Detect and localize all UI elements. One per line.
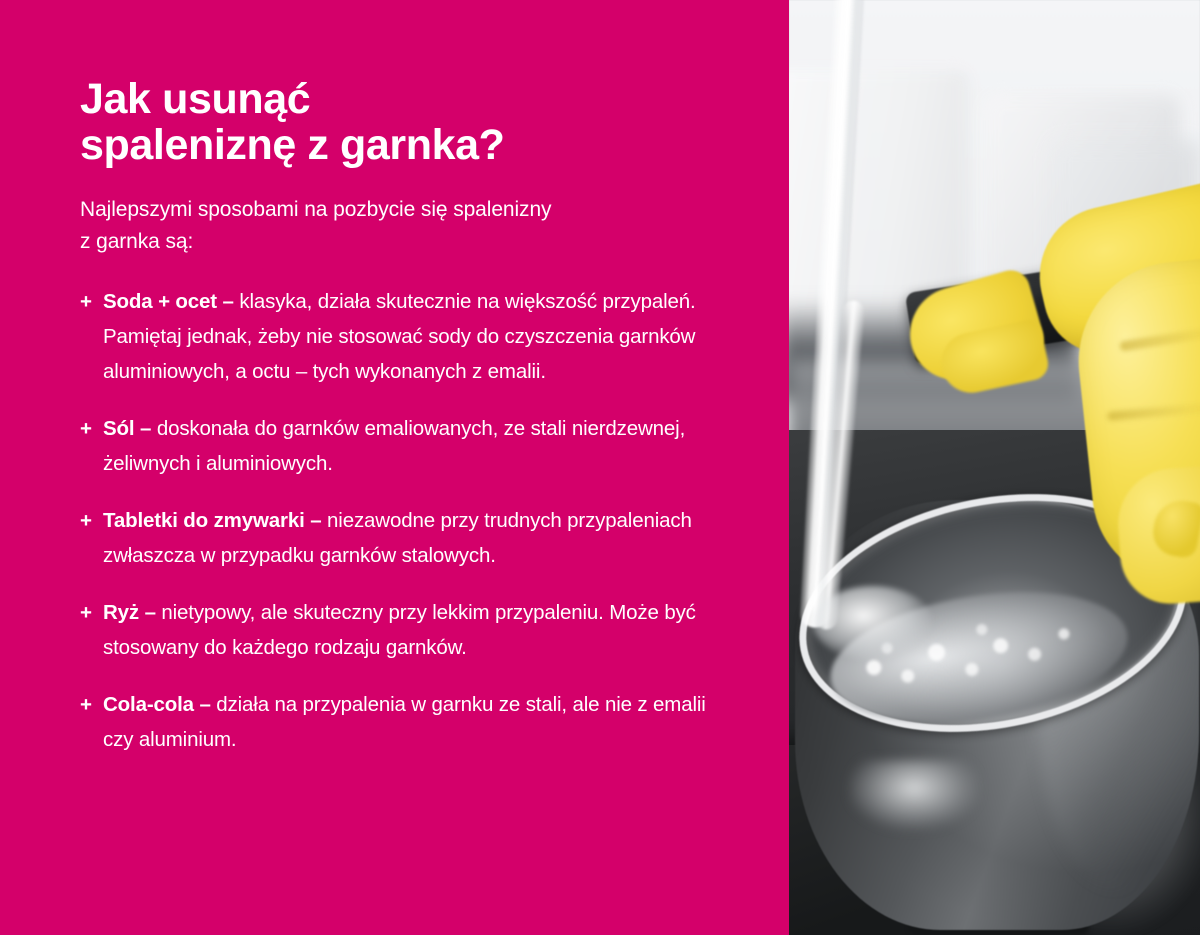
- list-item-description: doskonała do garnków emaliowanych, ze st…: [103, 417, 685, 475]
- list-item-term: Soda + ocet: [103, 290, 217, 313]
- pot-bottom-highlight: [849, 760, 979, 830]
- list-item-dash: –: [199, 693, 210, 716]
- list-item-term: Sól: [103, 417, 134, 440]
- plus-bullet-icon: +: [80, 687, 92, 722]
- list-item-dash: –: [310, 509, 321, 532]
- list-item-term: Cola-cola: [103, 693, 194, 716]
- list-item-term: Tabletki do zmywarki: [103, 509, 305, 532]
- list-item-dash: –: [140, 417, 151, 440]
- list-item: + Sól – doskonała do garnków emaliowanyc…: [80, 411, 729, 481]
- list-item: + Cola-cola – działa na przypalenia w ga…: [80, 687, 729, 757]
- list-item: + Soda + ocet – klasyka, działa skuteczn…: [80, 284, 729, 389]
- list-item-dash: –: [223, 290, 234, 313]
- list-item-dash: –: [145, 601, 156, 624]
- list-item-description: nietypowy, ale skuteczny przy lekkim prz…: [103, 601, 696, 659]
- list-item: + Ryż – nietypowy, ale skuteczny przy le…: [80, 595, 729, 665]
- plus-bullet-icon: +: [80, 411, 92, 446]
- page-title: Jak usunąć spaleniznę z garnka?: [80, 76, 729, 168]
- water-splash: [813, 586, 933, 660]
- plus-bullet-icon: +: [80, 284, 92, 319]
- list-item-term: Ryż: [103, 601, 139, 624]
- plus-bullet-icon: +: [80, 503, 92, 538]
- text-panel: Jak usunąć spaleniznę z garnka? Najlepsz…: [0, 0, 789, 935]
- tips-list: + Soda + ocet – klasyka, działa skuteczn…: [80, 284, 729, 757]
- infographic-card: Jak usunąć spaleniznę z garnka? Najlepsz…: [0, 0, 1200, 935]
- plus-bullet-icon: +: [80, 595, 92, 630]
- list-item: + Tabletki do zmywarki – niezawodne przy…: [80, 503, 729, 573]
- kitchen-photo: [789, 0, 1200, 935]
- intro-paragraph: Najlepszymi sposobami na pozbycie się sp…: [80, 194, 725, 258]
